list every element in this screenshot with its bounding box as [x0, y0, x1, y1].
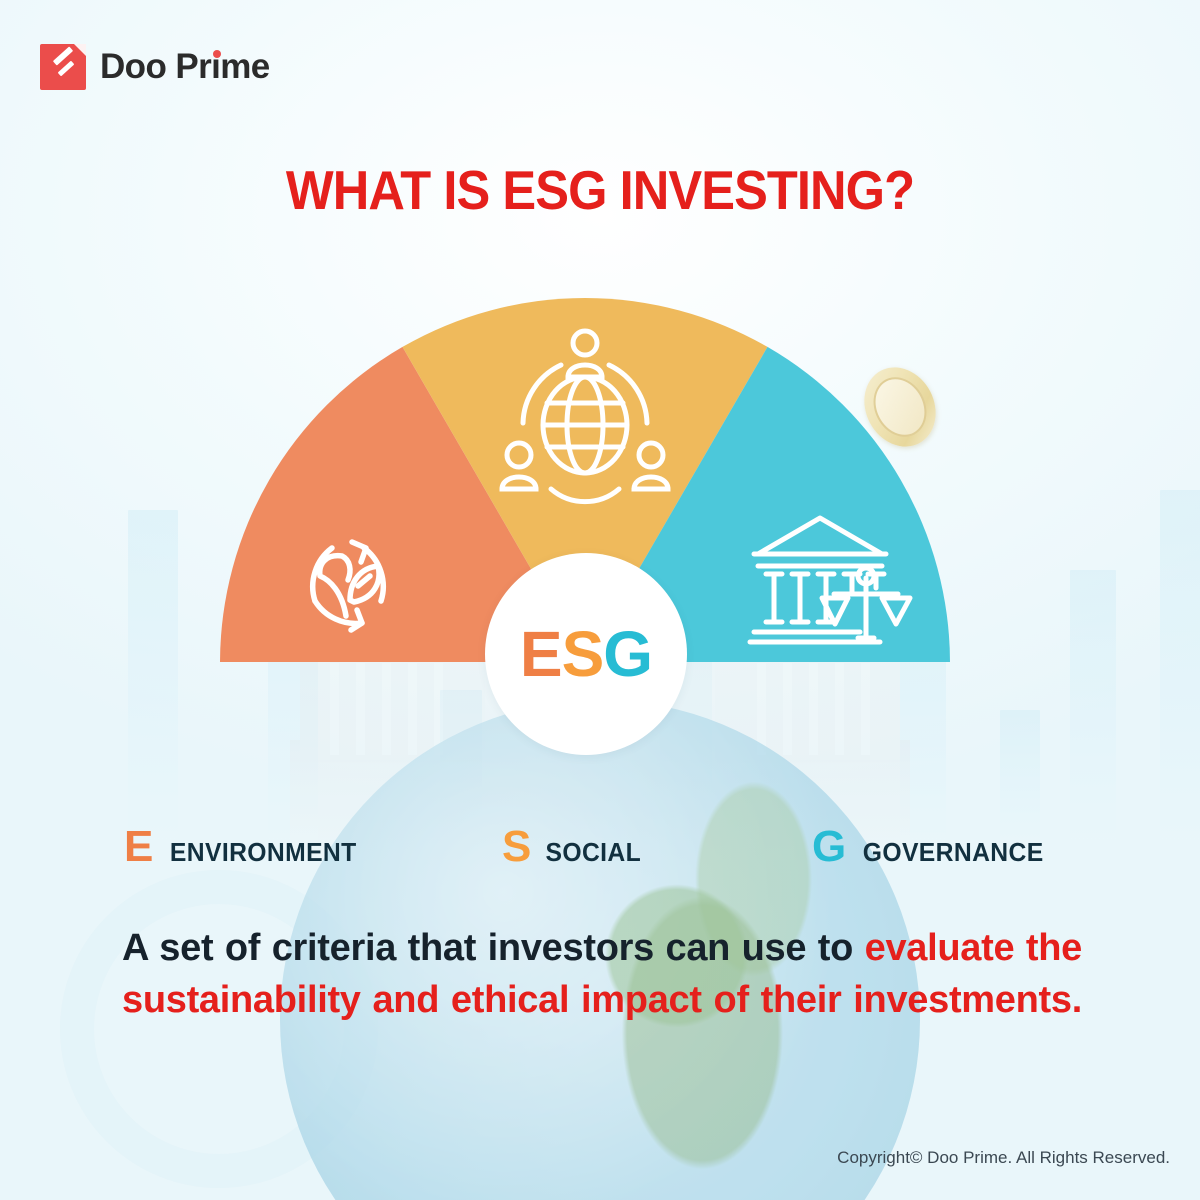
bg-bar-chart-bar [128, 510, 178, 840]
doo-prime-mark-icon [40, 44, 86, 90]
bg-bar-chart-bar [1070, 570, 1116, 840]
description-paragraph: A set of criteria that investors can use… [122, 922, 1082, 1079]
legend-letter-g: G [812, 825, 846, 869]
legend-label-social: SOCIAL [546, 837, 642, 868]
esg-letter-g: G [603, 618, 652, 690]
logo-i-dot-icon [213, 50, 221, 58]
bg-bar-chart-bar [440, 690, 482, 840]
brand-logo[interactable]: Doo Prime [40, 44, 270, 90]
legend-letter-s: S [502, 825, 531, 869]
page-title: WHAT IS ESG INVESTING? [48, 158, 1152, 222]
esg-center-label: ESG [520, 622, 652, 686]
bg-bar-chart-bar [1160, 490, 1200, 840]
legend-item-environment[interactable]: E ENVIRONMENT [124, 825, 502, 869]
esg-center-badge: ESG [485, 553, 687, 755]
footer-copyright: Copyright© Doo Prime. All Rights Reserve… [837, 1148, 1170, 1168]
bg-bar-chart-bar [1000, 710, 1040, 840]
esg-legend: E ENVIRONMENT S SOCIAL G GOVERNANCE [124, 825, 1084, 869]
brand-name-text: Doo Prime [100, 47, 270, 86]
esg-letter-e: E [520, 618, 562, 690]
legend-label-environment: ENVIRONMENT [170, 837, 357, 868]
infographic-canvas: Doo Prime WHAT IS ESG INVESTING? [0, 0, 1200, 1200]
esg-letter-s: S [562, 618, 604, 690]
description-plain-text: A set of criteria that investors can use… [122, 927, 865, 969]
legend-item-governance[interactable]: G GOVERNANCE [812, 825, 1049, 869]
legend-item-social[interactable]: S SOCIAL [502, 825, 812, 869]
brand-name: Doo Prime [100, 47, 270, 87]
legend-label-governance: GOVERNANCE [863, 837, 1044, 868]
legend-letter-e: E [124, 825, 153, 869]
